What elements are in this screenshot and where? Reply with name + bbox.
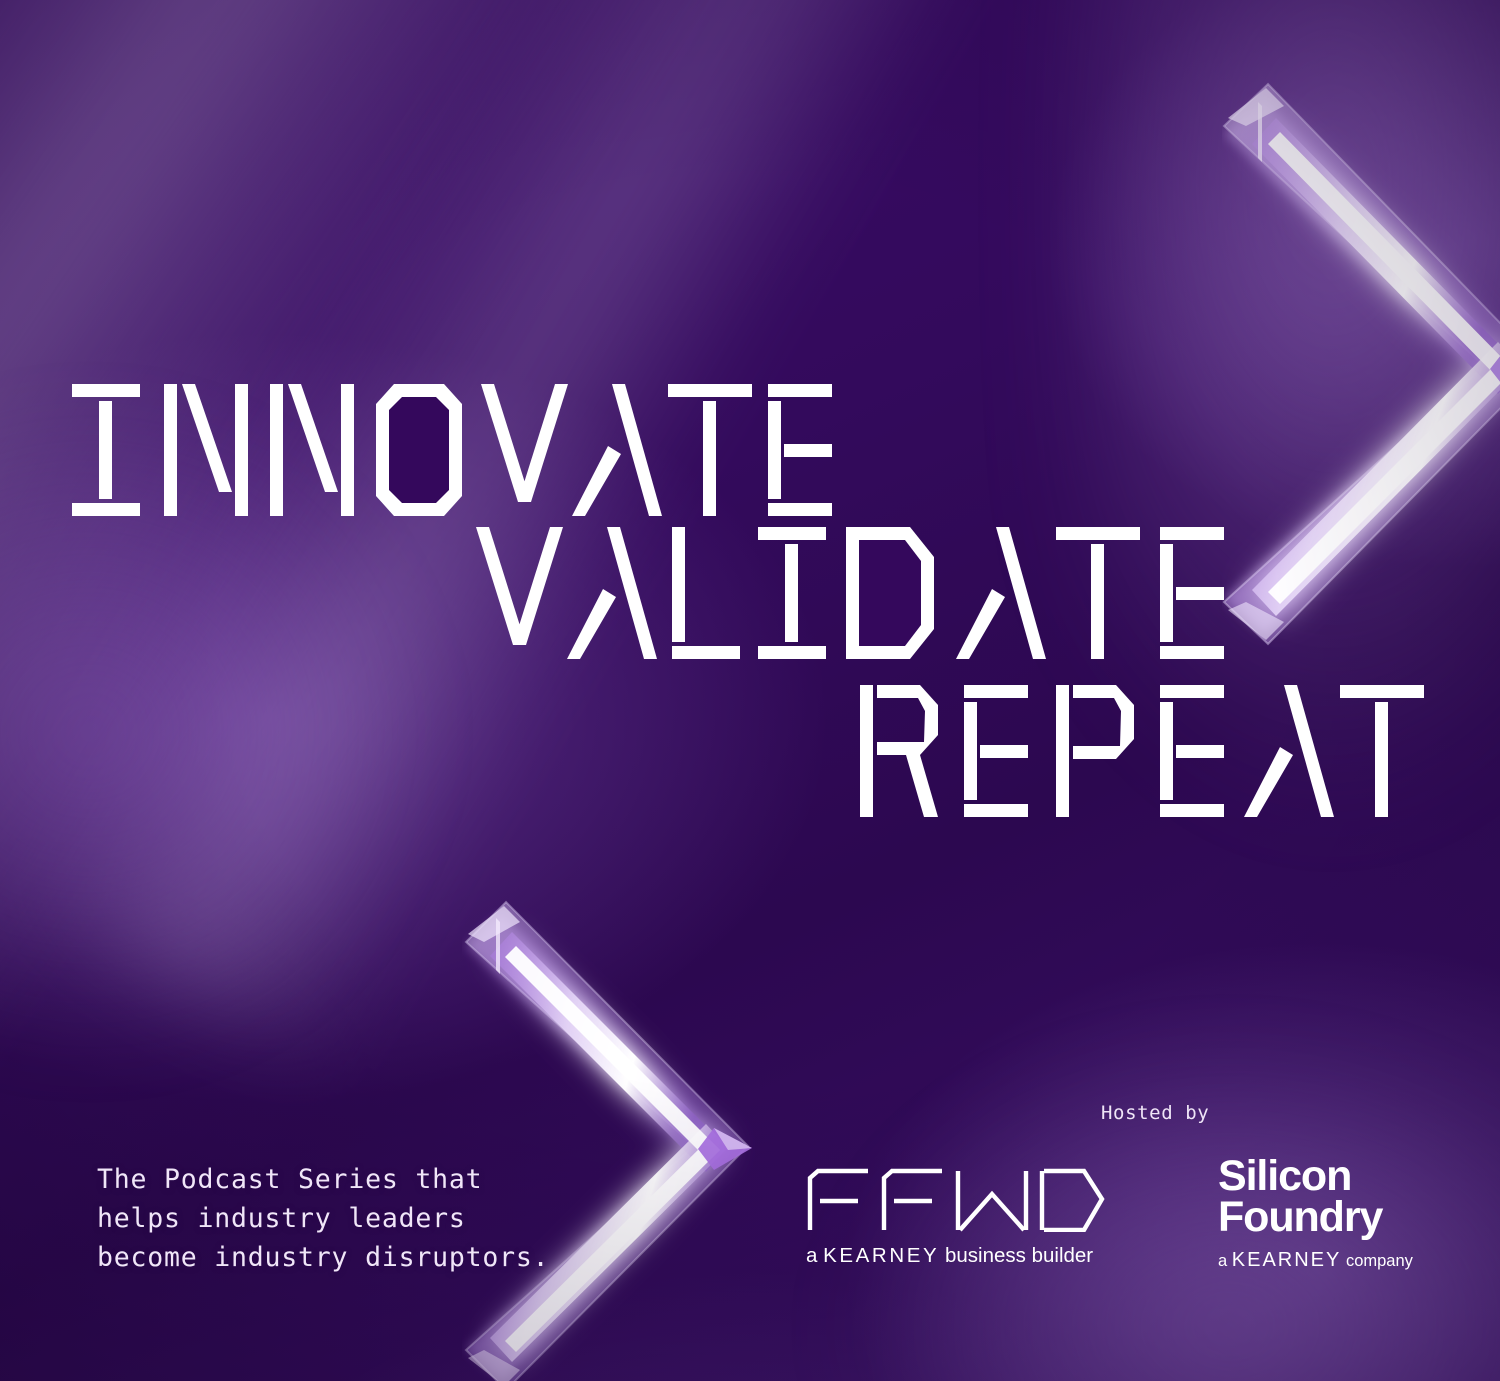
silicon-foundry-name-line2: Foundry <box>1218 1193 1382 1241</box>
sf-descriptor-brand: KEARNEY <box>1232 1249 1342 1271</box>
ffwd-descriptor-brand: KEARNEY <box>823 1244 939 1267</box>
sf-descriptor-suffix: company <box>1341 1252 1413 1270</box>
silicon-foundry-name: SiliconFoundry <box>1218 1156 1448 1239</box>
hosted-by-label: Hosted by <box>1101 1102 1209 1124</box>
ffwd-logo[interactable]: a KEARNEY business builder <box>806 1168 1116 1267</box>
silicon-foundry-logo[interactable]: SiliconFoundry a KEARNEY company <box>1218 1156 1448 1270</box>
logo-row: a KEARNEY business builder SiliconFoundr… <box>806 1160 1446 1290</box>
silicon-foundry-descriptor: a KEARNEY company <box>1218 1250 1448 1270</box>
tagline-text: The Podcast Series that helps industry l… <box>97 1160 549 1277</box>
poster-canvas: The Podcast Series that helps industry l… <box>0 0 1500 1381</box>
headline-line-innovate <box>72 384 832 516</box>
headline-line-repeat <box>860 685 1424 817</box>
sf-descriptor-prefix: a <box>1218 1252 1232 1270</box>
ffwd-descriptor: a KEARNEY business builder <box>806 1246 1116 1267</box>
ffwd-descriptor-suffix: business builder <box>939 1244 1093 1267</box>
ffwd-wordmark-icon <box>806 1168 1106 1232</box>
headline-line-validate <box>476 527 1224 659</box>
ffwd-descriptor-prefix: a <box>806 1244 823 1267</box>
